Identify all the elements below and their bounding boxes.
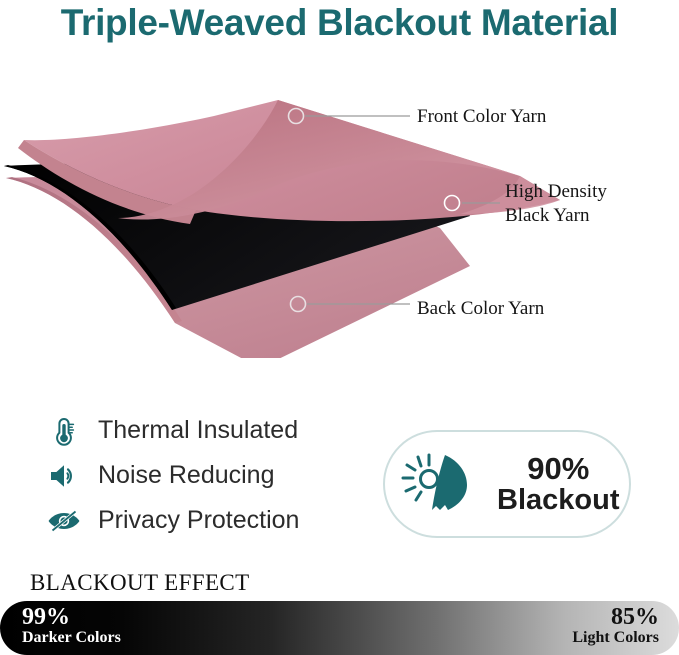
label-high-density-line1: High Density [505, 180, 607, 204]
blackout-percent: 90% [527, 451, 589, 486]
light-colors-label: Light Colors [572, 630, 659, 647]
feature-item-thermal-insulated: Thermal Insulated [46, 408, 299, 453]
feature-item-privacy-protection: Privacy Protection [46, 498, 299, 543]
blackout-badge: 90% Blackout [383, 430, 631, 538]
gradient-bar-left-stat: 99% Darker Colors [22, 605, 121, 647]
blackout-badge-text: 90% Blackout [497, 452, 619, 517]
feature-label-noise-reducing: Noise Reducing [98, 461, 275, 490]
thermometer-icon [46, 413, 82, 449]
feature-item-noise-reducing: Noise Reducing [46, 453, 299, 498]
darker-colors-percent: 99% [22, 605, 121, 630]
feature-label-privacy-protection: Privacy Protection [98, 506, 299, 535]
feature-label-thermal-insulated: Thermal Insulated [98, 416, 298, 445]
gradient-bar-right-stat: 85% Light Colors [572, 605, 659, 647]
label-high-density-black-yarn: High Density Black Yarn [505, 180, 607, 228]
label-front-color-yarn: Front Color Yarn [417, 105, 546, 129]
label-high-density-line2: Black Yarn [505, 204, 607, 228]
page-title: Triple-Weaved Blackout Material [0, 2, 679, 44]
sun-behind-curtain-icon [401, 451, 485, 517]
blackout-effect-heading: BLACKOUT EFFECT [30, 570, 250, 596]
light-colors-percent: 85% [572, 605, 659, 630]
eye-slash-icon [46, 503, 82, 539]
darker-colors-label: Darker Colors [22, 630, 121, 647]
label-back-color-yarn: Back Color Yarn [417, 297, 544, 321]
feature-list: Thermal Insulated Noise Reducing Privacy… [46, 408, 299, 543]
blackout-word: Blackout [497, 484, 619, 516]
speaker-sound-icon [46, 458, 82, 494]
blackout-effect-gradient-bar: 99% Darker Colors 85% Light Colors [0, 601, 679, 655]
